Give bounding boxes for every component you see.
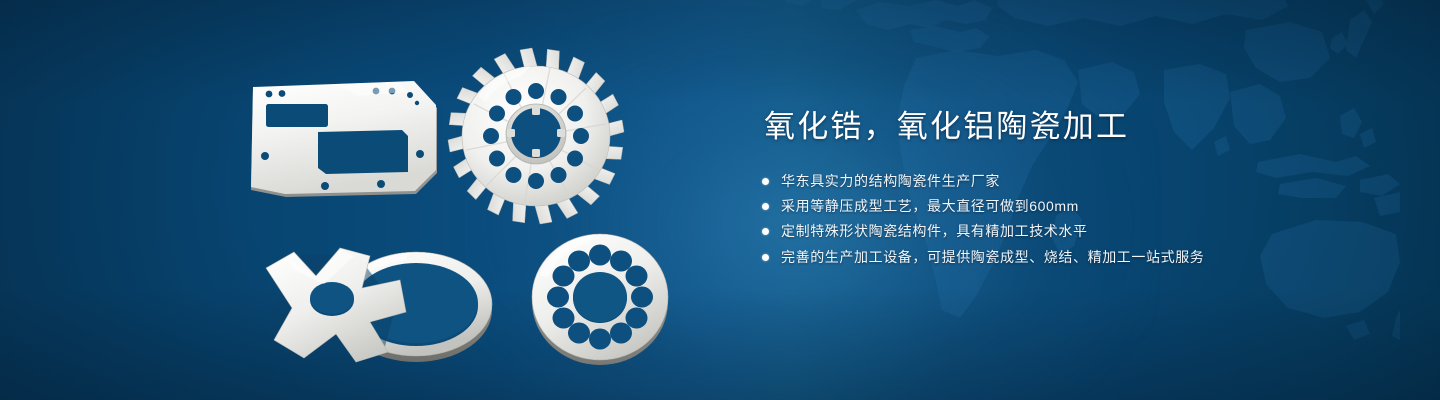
page-title: 氧化锆，氧化铝陶瓷加工	[764, 108, 1382, 147]
banner-copy: 氧化锆，氧化铝陶瓷加工 华东具实力的结构陶瓷件生产厂家 采用等静压成型工艺，最大…	[762, 108, 1382, 274]
ceramic-cross-and-ring-image	[248, 222, 508, 372]
list-item-label: 华东具实力的结构陶瓷件生产厂家	[781, 173, 1000, 190]
list-item-label: 采用等静压成型工艺，最大直径可做到600mm	[781, 198, 1079, 215]
list-item-label: 定制特殊形状陶瓷结构件，具有精加工技术水平	[781, 223, 1088, 240]
list-item: 完善的生产加工设备，可提供陶瓷成型、烧结、精加工一站式服务	[762, 249, 1382, 266]
list-item: 华东具实力的结构陶瓷件生产厂家	[762, 173, 1382, 190]
product-showcase	[0, 0, 740, 400]
hero-banner: 氧化锆，氧化铝陶瓷加工 华东具实力的结构陶瓷件生产厂家 采用等静压成型工艺，最大…	[0, 0, 1440, 400]
list-item: 定制特殊形状陶瓷结构件，具有精加工技术水平	[762, 223, 1382, 240]
feature-list: 华东具实力的结构陶瓷件生产厂家 采用等静压成型工艺，最大直径可做到600mm 定…	[762, 173, 1382, 266]
bullet-dot-icon	[762, 178, 769, 185]
bullet-dot-icon	[762, 228, 769, 235]
ceramic-holed-disc-image	[515, 225, 685, 370]
bullet-dot-icon	[762, 203, 769, 210]
list-item: 采用等静压成型工艺，最大直径可做到600mm	[762, 198, 1382, 215]
ceramic-impeller-image	[447, 52, 625, 222]
bullet-dot-icon	[762, 254, 769, 261]
ceramic-plate-image	[248, 78, 438, 198]
list-item-label: 完善的生产加工设备，可提供陶瓷成型、烧结、精加工一站式服务	[781, 249, 1204, 266]
